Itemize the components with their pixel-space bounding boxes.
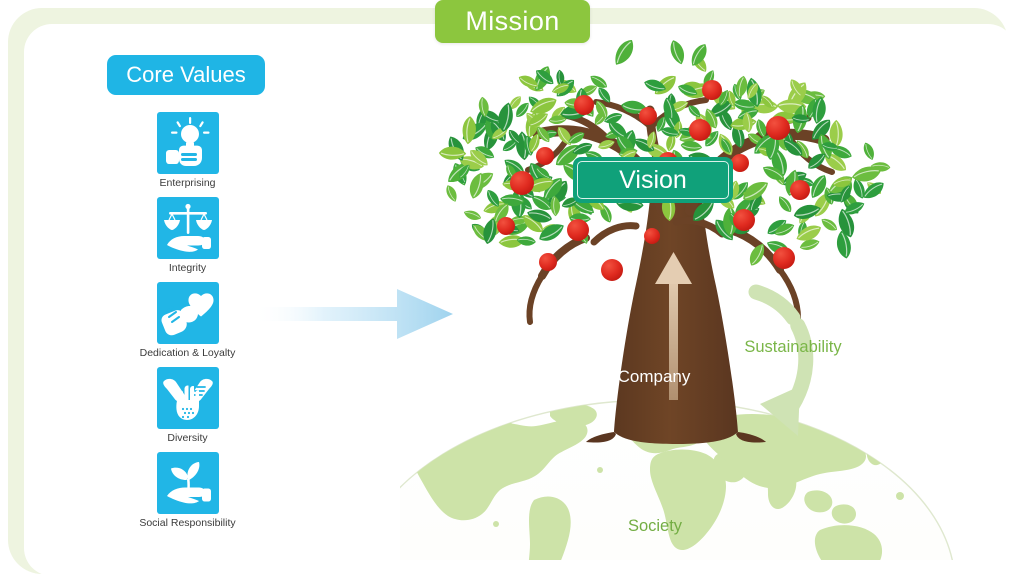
core-value-item-diversity[interactable]: Diversity — [100, 367, 275, 452]
core-value-item-dedication-loyalty[interactable]: Dedication & Loyalty — [100, 282, 275, 367]
company-tree-illustration — [400, 30, 960, 560]
core-value-label: Enterprising — [100, 177, 275, 190]
hand-holding-heart-icon — [157, 282, 219, 344]
core-value-label: Social Responsibility — [100, 517, 275, 530]
mission-badge: Mission — [435, 0, 590, 43]
core-value-item-enterprising[interactable]: Enterprising — [100, 112, 275, 197]
hand-holding-sprout-icon — [157, 452, 219, 514]
core-value-label: Dedication & Loyalty — [100, 347, 275, 360]
core-values-badge: Core Values — [107, 55, 265, 95]
hand-holding-scales-icon — [157, 197, 219, 259]
many-hands-together-icon — [157, 367, 219, 429]
sustainability-label: Sustainability — [718, 338, 868, 357]
core-value-label: Diversity — [100, 432, 275, 445]
values-to-tree-arrow — [255, 283, 455, 345]
core-value-item-integrity[interactable]: Integrity — [100, 197, 275, 282]
vision-badge: Vision — [573, 157, 733, 203]
vision-label: Vision — [619, 166, 687, 195]
society-label: Society — [600, 517, 710, 536]
core-value-label: Integrity — [100, 262, 275, 275]
hand-holding-lightbulb-icon — [157, 112, 219, 174]
core-value-item-social-responsibility[interactable]: Social Responsibility — [100, 452, 275, 537]
infographic-canvas: Vision Company Sustainability Society Mi… — [0, 0, 1024, 584]
company-label: Company — [604, 367, 704, 387]
core-values-list: Enterprising — [100, 112, 275, 537]
